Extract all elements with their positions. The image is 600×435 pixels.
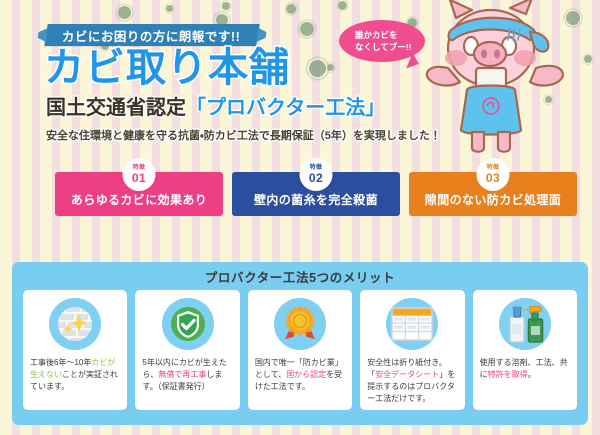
- merit-card-text: 5年以内にカビが生えたら、無償で再工事します。（保証書発行）: [142, 357, 232, 393]
- feature-box-list: 特徴01あらゆるカビに効果あり特徴02壁内の菌糸を完全殺菌特徴03隙間のない防カ…: [55, 172, 577, 216]
- merit-text-segment: 国から認定: [286, 370, 326, 379]
- merit-card[interactable]: 国内で唯一「防カビ業」として、国から認定を受けた工法です。: [248, 290, 352, 410]
- speech-bubble-line-2: なくしてブー!!: [355, 41, 425, 53]
- feature-01-label: あらゆるカビに効果あり: [71, 191, 207, 208]
- hero-section: カビにお困りの方に朗報です!! カビ取り本舗 国土交通省認定「プロバクター工法」…: [0, 0, 600, 250]
- merit-card-list: 工事後6年～10年カビが生えないことが実証されています。 5年以内にカビが生えた…: [12, 290, 588, 410]
- feature-01-badge: 特徴01: [123, 158, 156, 191]
- mold-spot-icon: [338, 1, 347, 10]
- hero-ribbon-banner: カビにお困りの方に朗報です!!: [44, 24, 260, 46]
- shield-check-icon: [162, 298, 214, 350]
- merit-text-segment: 特許を取得: [488, 370, 528, 379]
- mascot-speech-bubble: 誰かカビを なくしてブー!!: [339, 20, 425, 62]
- feature-03-badge-number: 03: [486, 172, 500, 184]
- pig-mascot-icon: [420, 0, 600, 156]
- merits-panel-title: プロバクター工法5つのメリット: [12, 262, 588, 290]
- mold-spot-icon: [286, 4, 296, 14]
- feature-01-badge-number: 01: [132, 172, 146, 184]
- merits-panel: プロバクター工法5つのメリット 工事後6年～10年カビが生えないことが実証されて…: [12, 262, 588, 425]
- page-lead-text: 安全な住環境と健康を守る抗菌・防カビ工法で長期保証（5年）を実現しました！: [46, 131, 441, 142]
- subtitle-plain: 国土交通省認定: [46, 97, 186, 119]
- speech-bubble-line-1: 誰かカビを: [355, 29, 425, 41]
- merit-card-text: 工事後6年～10年カビが生えないことが実証されています。: [30, 357, 120, 393]
- award-medal-icon: [274, 298, 326, 350]
- data-sheet-icon: [386, 298, 438, 350]
- brick-wall-sparkle-icon: [49, 298, 101, 350]
- mold-spot-icon: [309, 60, 326, 77]
- hero-ribbon-label: カビにお困りの方に朗報です!!: [62, 26, 240, 45]
- page-title: カビ取り本舗: [44, 48, 290, 88]
- feature-02-label: 壁内の菌糸を完全殺菌: [254, 191, 378, 208]
- feature-02-badge-number: 02: [309, 172, 323, 184]
- subtitle-highlight: 「プロバクター工法」: [186, 97, 385, 119]
- merit-card[interactable]: 安全性は折り紙付き。「安全データシート」を提示するのはプロバクター工法だけです。: [360, 290, 464, 410]
- page-subtitle: 国土交通省認定「プロバクター工法」: [46, 98, 385, 118]
- landing-page: カビにお困りの方に朗報です!! カビ取り本舗 国土交通省認定「プロバクター工法」…: [0, 0, 600, 435]
- spray-bottle-icon: [499, 298, 551, 350]
- merit-text-segment: 安全データシート: [375, 370, 439, 379]
- mold-spot-icon: [166, 5, 173, 12]
- merit-text-segment: 無償で再工事: [158, 370, 206, 379]
- mold-spot-icon: [222, 2, 230, 10]
- merit-card[interactable]: 工事後6年～10年カビが生えないことが実証されています。: [23, 290, 127, 410]
- feature-02-badge: 特徴02: [300, 158, 333, 191]
- merit-card[interactable]: 使用する溶剤、工法、共に特許を取得。: [473, 290, 577, 410]
- feature-01[interactable]: 特徴01あらゆるカビに効果あり: [55, 172, 223, 216]
- mold-spot-icon: [300, 22, 314, 36]
- mold-spot-icon: [118, 6, 131, 19]
- feature-03[interactable]: 特徴03隙間のない防カビ処理面: [409, 172, 577, 216]
- merit-text-segment: 工事後6年～10年: [30, 358, 91, 367]
- feature-02[interactable]: 特徴02壁内の菌糸を完全殺菌: [232, 172, 400, 216]
- merit-card-text: 国内で唯一「防カビ業」として、国から認定を受けた工法です。: [255, 357, 345, 393]
- merit-card-text: 安全性は折り紙付き。「安全データシート」を提示するのはプロバクター工法だけです。: [367, 357, 457, 405]
- merit-card-text: 使用する溶剤、工法、共に特許を取得。: [480, 357, 570, 381]
- feature-03-badge: 特徴03: [477, 158, 510, 191]
- feature-03-label: 隙間のない防カビ処理面: [425, 191, 561, 208]
- merit-card[interactable]: 5年以内にカビが生えたら、無償で再工事します。（保証書発行）: [135, 290, 239, 410]
- mold-spot-icon: [327, 64, 334, 71]
- merit-text-segment: 。: [528, 370, 536, 379]
